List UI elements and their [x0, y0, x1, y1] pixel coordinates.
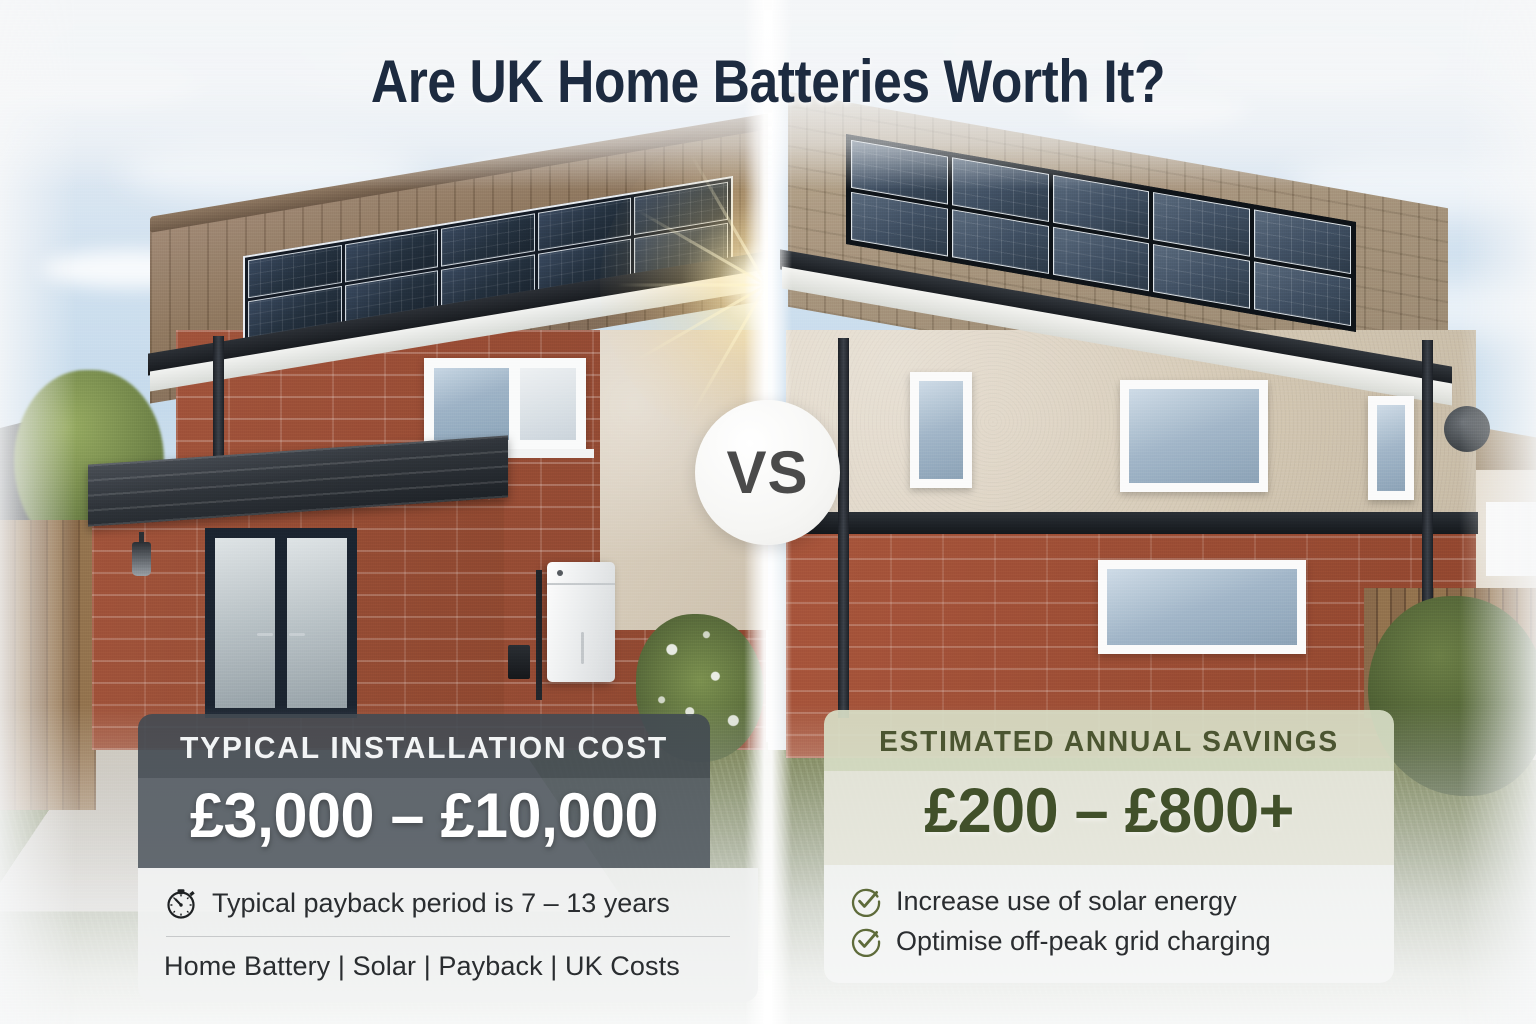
page-title: Are UK Home Batteries Worth It?	[108, 50, 1429, 113]
vs-badge: VS	[695, 400, 840, 545]
upstairs-window-left	[910, 372, 972, 488]
savings-card-value: £200 – £800+	[850, 775, 1368, 847]
savings-card-heading: ESTIMATED ANNUAL SAVINGS	[850, 726, 1368, 759]
topic-tags: Home Battery | Solar | Payback | UK Cost…	[164, 951, 732, 982]
check-circle-icon	[850, 885, 882, 917]
stopwatch-icon	[164, 886, 198, 920]
satellite-dish-icon	[1444, 406, 1490, 452]
wall-lantern-icon	[132, 542, 151, 576]
savings-card-value-area: £200 – £800+	[824, 771, 1394, 865]
payback-note-row: Typical payback period is 7 – 13 years	[164, 886, 732, 920]
downpipe	[838, 338, 849, 718]
cost-card-value-area: £3,000 – £10,000	[138, 778, 710, 868]
cost-card-heading: TYPICAL INSTALLATION COST	[164, 730, 684, 766]
benefit-text-2: Optimise off-peak grid charging	[896, 926, 1271, 957]
inverter-box	[508, 645, 530, 679]
infographic-canvas: Are UK Home Batteries Worth It? VS TYPIC…	[0, 0, 1536, 1024]
upstairs-window-centre	[1120, 380, 1268, 492]
payback-note-text: Typical payback period is 7 – 13 years	[212, 888, 670, 919]
garden-fence	[0, 520, 96, 810]
electrical-conduit	[536, 570, 542, 700]
upstairs-window-right	[1368, 396, 1414, 500]
cost-card-value: £3,000 – £10,000	[164, 780, 684, 852]
annual-savings-card: ESTIMATED ANNUAL SAVINGS £200 – £800+ In…	[824, 710, 1394, 983]
installation-cost-card: TYPICAL INSTALLATION COST £3,000 – £10,0…	[138, 714, 758, 1002]
benefit-row-2: Optimise off-peak grid charging	[850, 921, 1368, 961]
home-battery-unit	[547, 562, 615, 682]
savings-card-header: ESTIMATED ANNUAL SAVINGS	[824, 710, 1394, 771]
benefit-text-1: Increase use of solar energy	[896, 886, 1237, 917]
cost-card-header: TYPICAL INSTALLATION COST	[138, 714, 710, 778]
neighbour-window	[1486, 502, 1536, 576]
cost-card-footer: Typical payback period is 7 – 13 years H…	[138, 868, 758, 1002]
savings-card-footer: Increase use of solar energy Optimise of…	[824, 865, 1394, 983]
ground-floor-window	[1098, 560, 1306, 654]
benefit-row-1: Increase use of solar energy	[850, 881, 1368, 921]
check-circle-icon	[850, 925, 882, 957]
french-doors	[205, 528, 357, 718]
storey-band	[778, 512, 1478, 534]
card-divider	[166, 936, 730, 937]
vs-badge-label: VS	[726, 438, 808, 507]
battery-status-led	[557, 570, 563, 576]
